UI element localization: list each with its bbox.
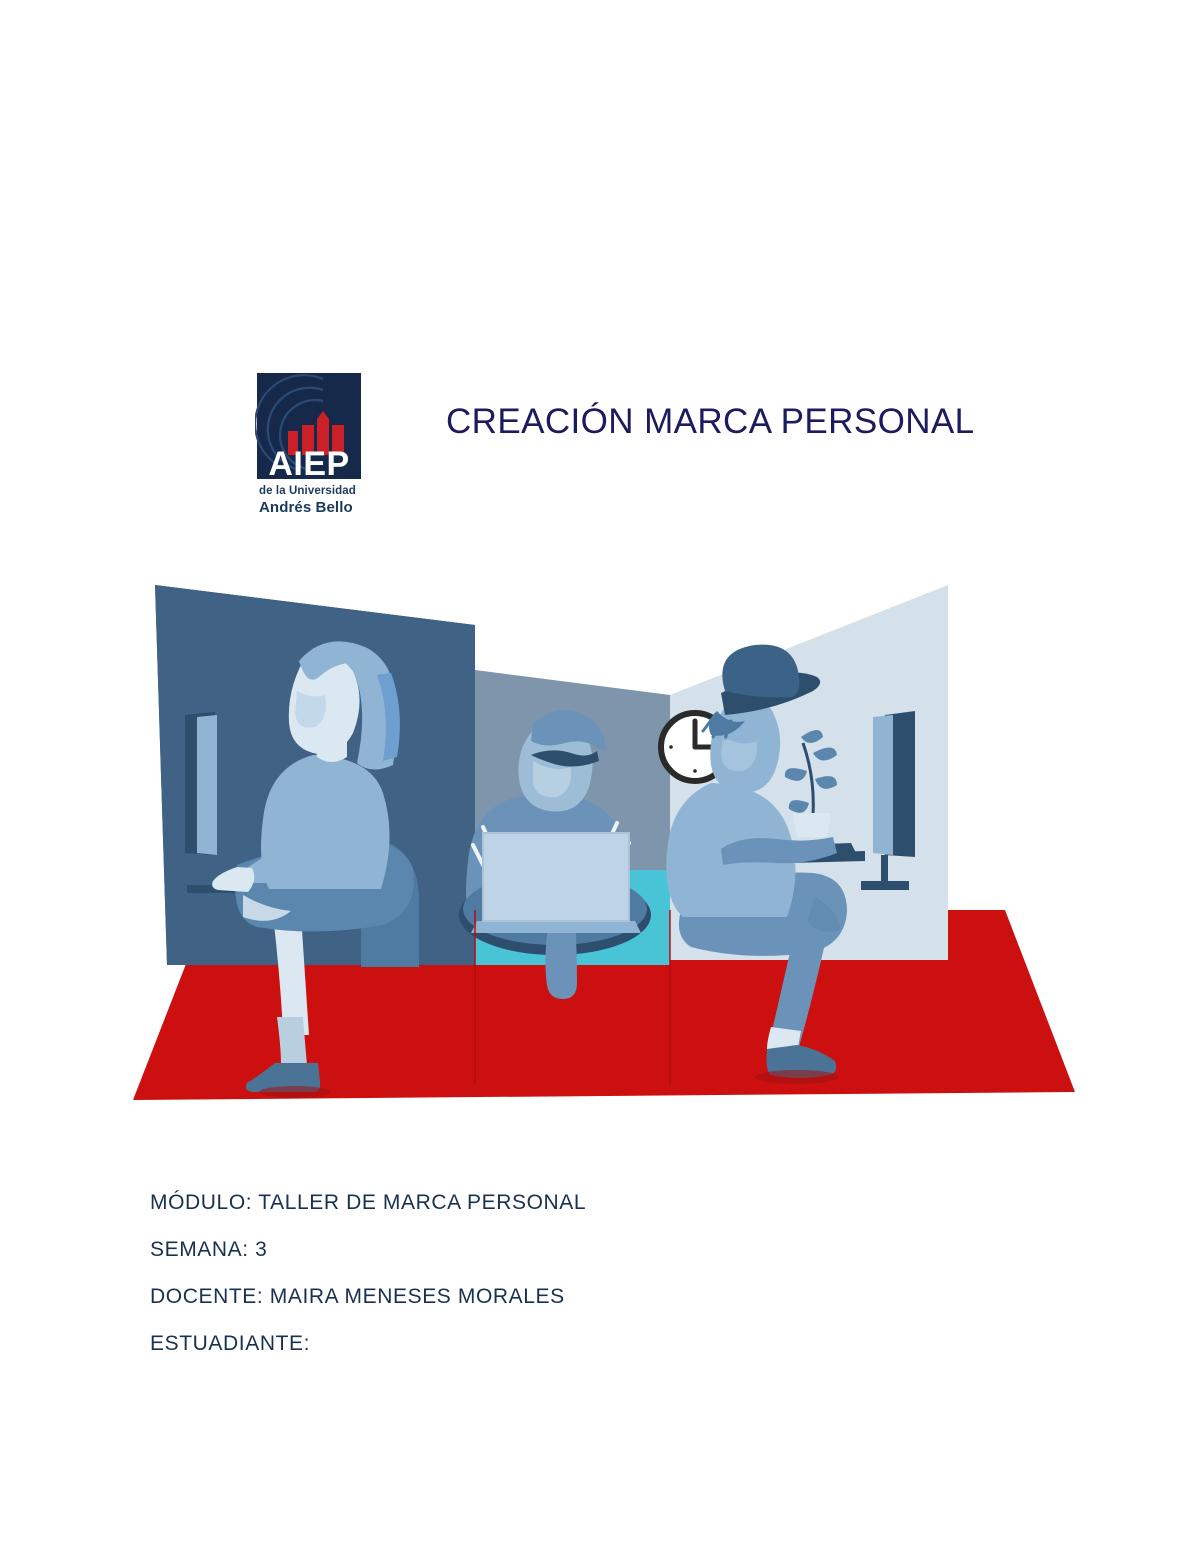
svg-text:AIEP: AIEP bbox=[268, 445, 349, 483]
page-title: CREACIÓN MARCA PERSONAL bbox=[446, 402, 974, 442]
aiep-logo: AIEP de la Universidad Andrés Bello bbox=[255, 373, 363, 523]
meta-line-semana: SEMANA: 3 bbox=[150, 1226, 1050, 1273]
svg-text:Andrés Bello: Andrés Bello bbox=[259, 499, 353, 516]
document-header: AIEP de la Universidad Andrés Bello CREA… bbox=[0, 368, 1200, 538]
meta-line-estudiante: ESTUADIANTE: bbox=[150, 1320, 1050, 1367]
svg-text:de la Universidad: de la Universidad bbox=[259, 485, 356, 497]
document-page: AIEP de la Universidad Andrés Bello CREA… bbox=[0, 0, 1200, 1553]
document-meta-block: MÓDULO: TALLER DE MARCA PERSONAL SEMANA:… bbox=[150, 1179, 1050, 1367]
meta-line-modulo: MÓDULO: TALLER DE MARCA PERSONAL bbox=[150, 1179, 1050, 1226]
meta-line-docente: DOCENTE: MAIRA MENESES MORALES bbox=[150, 1273, 1050, 1320]
remote-work-illustration bbox=[125, 565, 1080, 1110]
